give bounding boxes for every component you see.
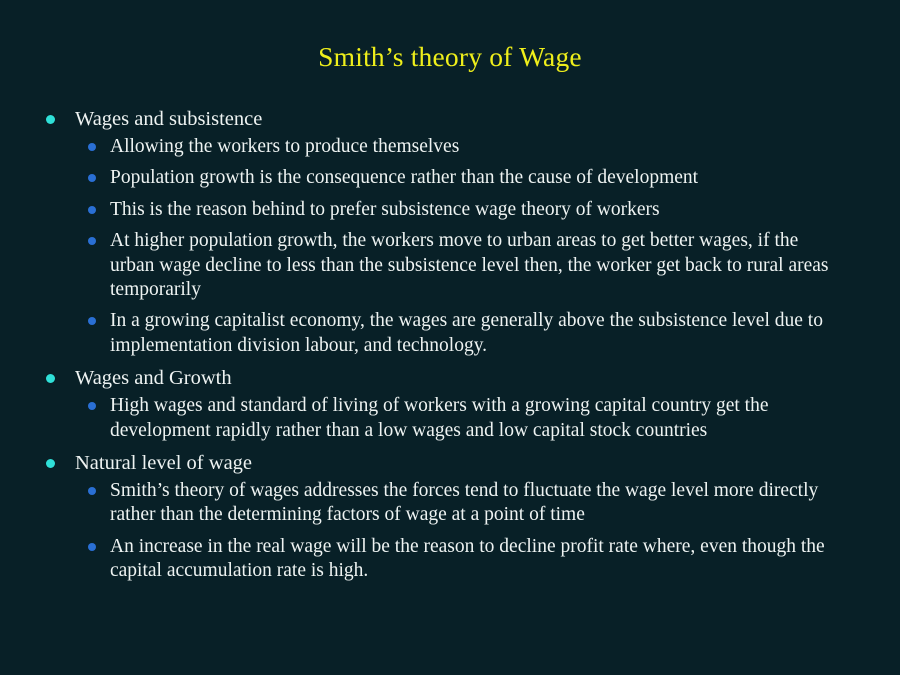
outline-item-level2: An increase in the real wage will be the…: [0, 535, 900, 584]
outline-item-level2: At higher population growth, the workers…: [0, 229, 900, 302]
outline-item-level2: This is the reason behind to prefer subs…: [0, 198, 900, 222]
page-title: Smith’s theory of Wage: [0, 40, 900, 74]
outline-item-text: An increase in the real wage will be the…: [110, 535, 845, 584]
outline-item-text: At higher population growth, the workers…: [110, 229, 845, 302]
outline-item-level2: Smith’s theory of wages addresses the fo…: [0, 479, 900, 528]
outline-item-level1: Natural level of wage: [0, 450, 900, 477]
outline-item-level2: Population growth is the consequence rat…: [0, 166, 900, 190]
bullet-dot-level2-icon: [88, 487, 96, 495]
outline-item-level2: Allowing the workers to produce themselv…: [0, 135, 900, 159]
bullet-dot-level2-icon: [88, 206, 96, 214]
bullet-dot-level1-icon: [46, 115, 55, 124]
slide-body-outline: Wages and subsistenceAllowing the worker…: [0, 106, 900, 591]
bullet-dot-level2-icon: [88, 543, 96, 551]
bullet-dot-level2-icon: [88, 143, 96, 151]
outline-item-text: Wages and subsistence: [75, 106, 860, 133]
outline-item-text: Wages and Growth: [75, 365, 860, 392]
outline-item-level1: Wages and Growth: [0, 365, 900, 392]
outline-item-level2: High wages and standard of living of wor…: [0, 394, 900, 443]
bullet-dot-level1-icon: [46, 459, 55, 468]
outline-item-level2: In a growing capitalist economy, the wag…: [0, 309, 900, 358]
bullet-dot-level2-icon: [88, 237, 96, 245]
outline-item-text: Natural level of wage: [75, 450, 860, 477]
bullet-dot-level2-icon: [88, 317, 96, 325]
outline-item-level1: Wages and subsistence: [0, 106, 900, 133]
outline-item-text: Smith’s theory of wages addresses the fo…: [110, 479, 845, 528]
outline-item-text: Population growth is the consequence rat…: [110, 166, 845, 190]
outline-item-text: In a growing capitalist economy, the wag…: [110, 309, 845, 358]
presentation-slide: Smith’s theory of Wage Wages and subsist…: [0, 0, 900, 675]
bullet-dot-level2-icon: [88, 402, 96, 410]
outline-item-text: This is the reason behind to prefer subs…: [110, 198, 845, 222]
bullet-dot-level2-icon: [88, 174, 96, 182]
outline-item-text: High wages and standard of living of wor…: [110, 394, 845, 443]
outline-item-text: Allowing the workers to produce themselv…: [110, 135, 845, 159]
bullet-dot-level1-icon: [46, 374, 55, 383]
